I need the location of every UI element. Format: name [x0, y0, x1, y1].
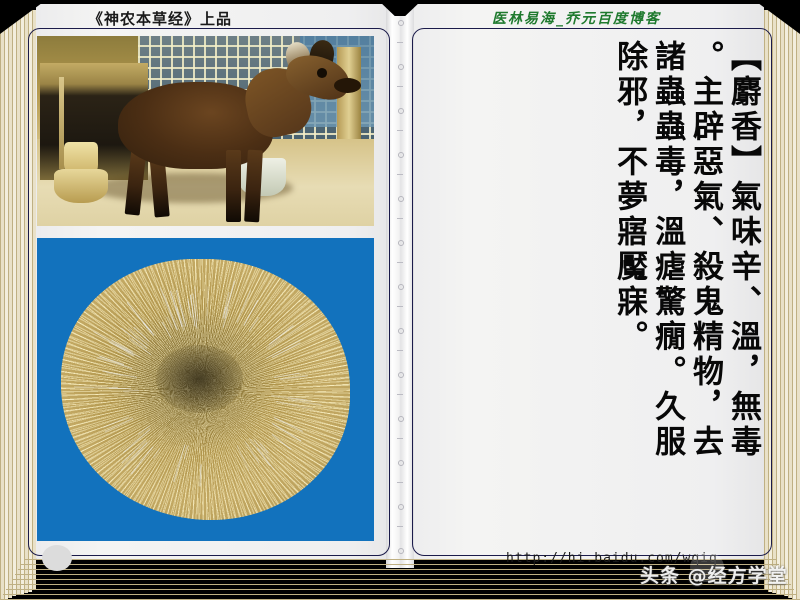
book-gutter	[386, 2, 414, 568]
stray-hair	[123, 429, 150, 453]
binding-stitch	[397, 482, 403, 483]
binding-stitch	[398, 372, 404, 378]
deer-leg	[226, 150, 241, 222]
binding-stitch	[398, 504, 404, 510]
binding-stitch	[398, 460, 404, 466]
binding-stitch	[397, 218, 403, 219]
stray-hair	[153, 448, 161, 459]
binding-stitch	[397, 174, 403, 175]
page-edge-line	[3, 594, 797, 595]
binding-stitch	[398, 20, 404, 26]
binding-stitch	[397, 42, 403, 43]
page-edge-leaf	[772, 7, 776, 593]
stray-hair	[96, 358, 132, 370]
stray-hair	[236, 446, 249, 472]
watermark-text: 头条 @经方学堂	[640, 561, 788, 588]
binding-stitch	[398, 240, 404, 246]
binding-stitch	[398, 64, 404, 70]
binding-stitch	[397, 262, 403, 263]
left-page-header: 《神农本草经》上品	[88, 8, 232, 29]
page-edge-leaf	[788, 2, 792, 597]
stray-hairs	[37, 238, 374, 541]
stray-hair	[206, 286, 208, 320]
binding-stitch	[397, 86, 403, 87]
page-edge-leaf	[784, 4, 788, 597]
page-edge-leaf	[796, 0, 800, 600]
musk-pod-photo	[37, 238, 374, 541]
stray-hair	[127, 302, 153, 333]
deer-eye	[317, 68, 327, 78]
page-number-dot	[42, 545, 72, 571]
stray-hair	[123, 390, 139, 392]
page-edge-line	[6, 589, 794, 590]
text-column-3: 諸蟲蟲毒，溫瘧驚癇。久服	[648, 40, 684, 540]
text-column-4: 除邪，不夢寤魘寐。	[610, 40, 646, 540]
binding-stitch	[397, 394, 403, 395]
binding-stitch	[397, 306, 403, 307]
page-edge-leaf	[780, 5, 784, 595]
binding-stitch	[398, 328, 404, 334]
classical-text-block: 【麝香】氣味辛、溫，無毒 。主辟惡氣、殺鬼精物，去 諸蟲蟲毒，溫瘧驚癇。久服 除…	[430, 40, 760, 540]
deer-snout	[334, 78, 361, 93]
screenshot-root: 《神农本草经》上品	[0, 0, 800, 600]
musk-deer-photo	[37, 36, 374, 226]
stray-hair	[269, 325, 294, 345]
stray-hair	[173, 445, 185, 483]
binding-stitch	[398, 108, 404, 114]
binding-stitch	[398, 416, 404, 422]
stray-hair	[274, 417, 303, 432]
stray-hair	[199, 465, 201, 487]
stray-hair	[272, 342, 301, 358]
stray-hair	[248, 318, 258, 332]
right-page-header: 医林易海_乔元百度博客	[492, 8, 661, 28]
binding-stitch	[397, 526, 403, 527]
page-edge-leaf	[776, 6, 780, 594]
text-column-2: 。主辟惡氣、殺鬼精物，去	[686, 40, 722, 540]
stray-hair	[272, 434, 292, 450]
binding-stitch	[397, 438, 403, 439]
stray-hair	[237, 290, 252, 323]
binding-stitch	[398, 548, 404, 554]
binding-stitch	[398, 284, 404, 290]
open-book: 《神农本草经》上品	[0, 0, 800, 600]
binding-stitch	[397, 350, 403, 351]
text-column-1: 【麝香】氣味辛、溫，無毒	[724, 40, 760, 540]
binding-stitch	[398, 196, 404, 202]
stray-hair	[109, 388, 131, 389]
feed-bowl	[54, 169, 108, 203]
binding-stitch	[398, 152, 404, 158]
page-edge-leaf	[792, 1, 796, 599]
binding-stitch	[397, 130, 403, 131]
